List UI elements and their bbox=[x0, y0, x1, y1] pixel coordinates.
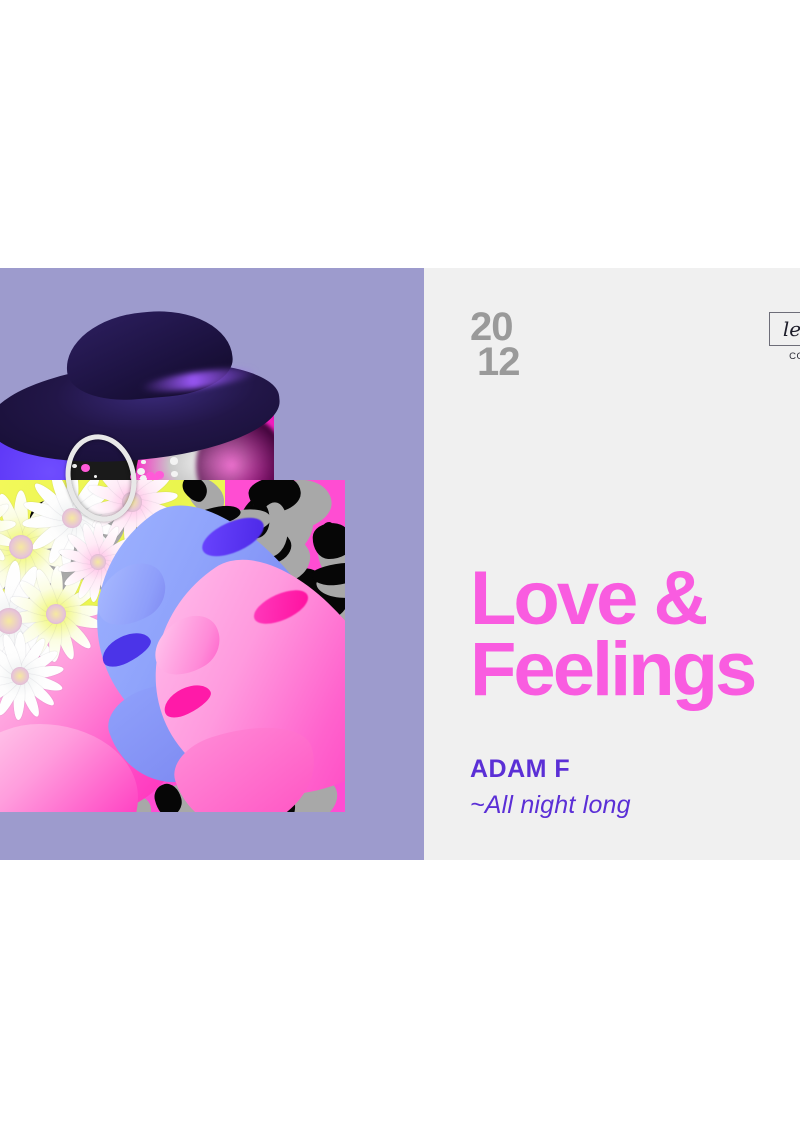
artist-tagline: ~All night long bbox=[470, 791, 631, 820]
poster-left-panel bbox=[0, 268, 424, 860]
logo-box: le bbox=[769, 312, 800, 346]
daisy-flower bbox=[0, 630, 66, 722]
collage-frame bbox=[0, 480, 345, 812]
title-line-2: Feelings bbox=[470, 634, 754, 705]
poster-title: Love & Feelings bbox=[470, 563, 754, 706]
brand-logo[interactable]: le COCK bbox=[769, 312, 800, 362]
poster: 20 12 le COCK Love & Feelings ADAM F ~Al… bbox=[0, 268, 800, 860]
logo-subtitle: COCK bbox=[769, 351, 800, 362]
year-stack: 20 12 bbox=[470, 310, 520, 380]
poster-right-panel: 20 12 le COCK Love & Feelings ADAM F ~Al… bbox=[424, 268, 800, 860]
daisy-flower bbox=[0, 486, 18, 574]
year-bottom: 12 bbox=[477, 345, 520, 380]
artist-name: ADAM F bbox=[470, 755, 570, 784]
model-head-artwork bbox=[0, 286, 288, 506]
logo-mark: le bbox=[783, 319, 800, 339]
classical-bust-pink bbox=[160, 560, 345, 812]
